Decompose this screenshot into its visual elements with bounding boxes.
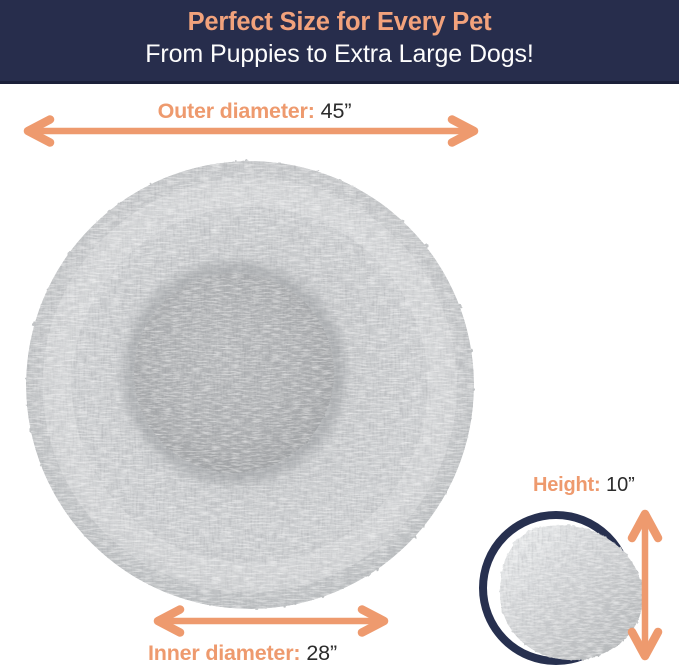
height-arrow-icon [628,508,662,662]
inner-diameter-label: Inner diameter: 28” [148,640,337,666]
height-value: 10” [606,474,635,496]
outer-diameter-arrow-icon [22,118,480,144]
height-label-text: Height: [533,474,600,496]
page-title: Perfect Size for Every Pet [0,6,679,38]
inner-diameter-value: 28” [306,641,337,665]
pet-bed-main-image [22,157,478,613]
header-banner: Perfect Size for Every Pet From Puppies … [0,0,679,84]
page-subtitle: From Puppies to Extra Large Dogs! [0,38,679,70]
inner-diameter-label-text: Inner diameter: [148,641,300,665]
inner-diameter-arrow-icon [152,608,390,634]
height-label: Height: 10” [533,472,635,498]
pet-bed-side-view-inset [470,502,650,672]
